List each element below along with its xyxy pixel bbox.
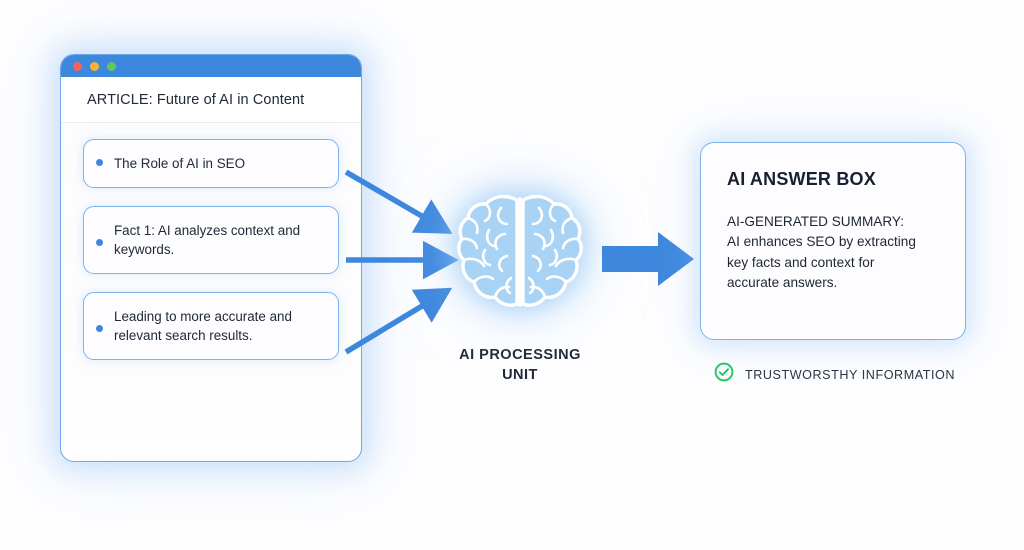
check-circle-icon (714, 362, 734, 387)
answer-box-heading: AI ANSWER BOX (727, 169, 941, 190)
answer-box-summary: AI-GENERATED SUMMARY: AI enhances SEO by… (727, 212, 941, 294)
bullet-icon (96, 325, 103, 332)
bullet-icon (96, 159, 103, 166)
processing-unit-label: AI PROCESSING UNIT (430, 346, 610, 385)
list-item-label: Leading to more accurate and relevant se… (114, 307, 324, 345)
arrow-fact-3 (346, 300, 432, 352)
status-badge-label: TRUSTWORSTHY INFORMATION (745, 368, 955, 382)
minimize-icon[interactable] (90, 62, 99, 71)
bullet-icon (96, 239, 103, 246)
output-arrow-shape (602, 232, 694, 286)
processing-unit-label-line2: UNIT (430, 366, 610, 386)
brain-icon (455, 190, 585, 316)
arrow-fact-1 (346, 172, 432, 222)
maximize-icon[interactable] (107, 62, 116, 71)
output-arrow (600, 228, 700, 290)
list-item-label: Fact 1: AI analyzes context and keywords… (114, 221, 324, 259)
ai-processing-unit: AI PROCESSING UNIT (430, 190, 610, 385)
article-fact-list: The Role of AI in SEO Fact 1: AI analyze… (61, 123, 361, 360)
article-window: ARTICLE: Future of AI in Content The Rol… (60, 54, 362, 462)
list-item[interactable]: Leading to more accurate and relevant se… (83, 292, 339, 360)
diagram-canvas: ARTICLE: Future of AI in Content The Rol… (0, 0, 1024, 550)
list-item[interactable]: The Role of AI in SEO (83, 139, 339, 188)
list-item[interactable]: Fact 1: AI analyzes context and keywords… (83, 206, 339, 274)
article-header: ARTICLE: Future of AI in Content (61, 77, 361, 123)
article-title: ARTICLE: Future of AI in Content (87, 92, 304, 108)
status-badge: TRUSTWORSTHY INFORMATION (714, 362, 955, 387)
processing-unit-label-line1: AI PROCESSING (430, 346, 610, 366)
window-titlebar (61, 55, 361, 77)
close-icon[interactable] (73, 62, 82, 71)
list-item-label: The Role of AI in SEO (114, 154, 245, 173)
ai-answer-box: AI ANSWER BOX AI-GENERATED SUMMARY: AI e… (700, 142, 966, 340)
